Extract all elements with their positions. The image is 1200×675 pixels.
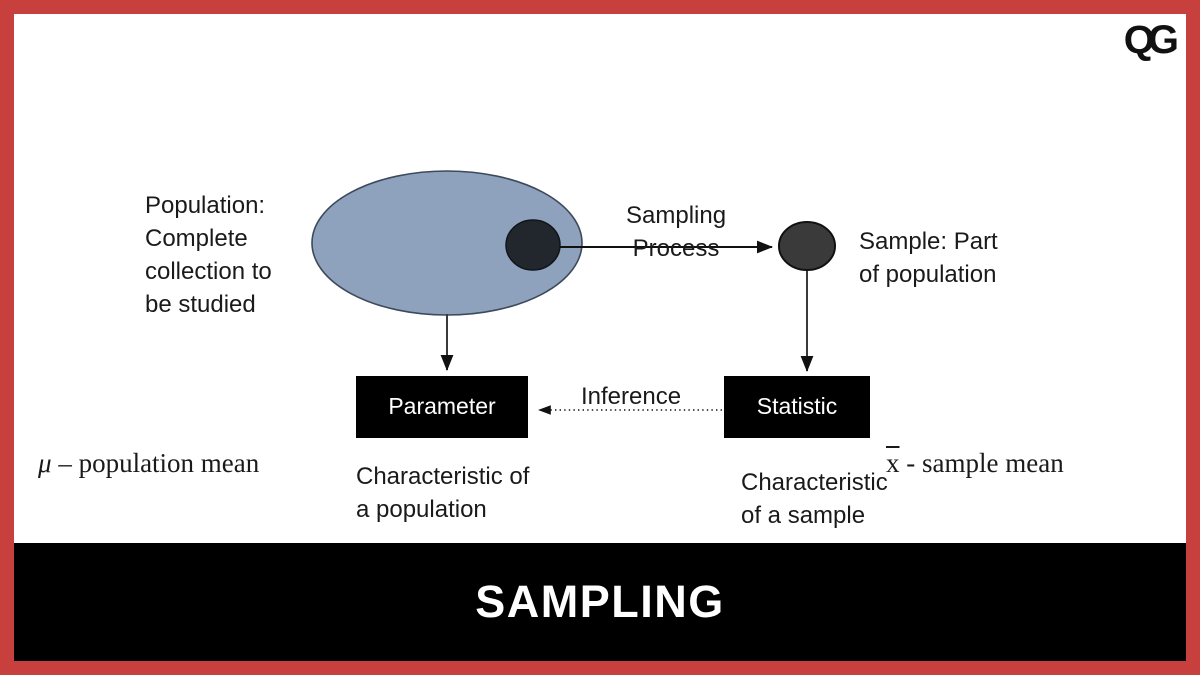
statistic-box-label: Statistic (724, 393, 870, 420)
slide-frame: QG (0, 0, 1200, 675)
x-bar-symbol-text: - sample mean (900, 448, 1064, 478)
population-description: Population: Complete collection to be st… (145, 189, 272, 321)
mu-symbol-text: – population mean (52, 448, 260, 478)
slide-title: SAMPLING (475, 576, 725, 628)
slide-canvas: QG (14, 14, 1186, 661)
sampling-process-label: Sampling Process (626, 199, 726, 265)
x-bar-symbol: x (886, 448, 900, 478)
population-sample-circle (506, 220, 560, 270)
parameter-box-label: Parameter (356, 393, 528, 420)
sample-circle (779, 222, 835, 270)
statistic-caption: Characteristic of a sample (741, 466, 888, 532)
statistic-symbol-mean-line: x - sample mean (886, 447, 1096, 480)
parameter-symbol-mean-line: μ – population mean (38, 447, 286, 480)
title-bar: SAMPLING (14, 543, 1186, 661)
inference-label: Inference (581, 380, 681, 413)
sample-description: Sample: Part of population (859, 225, 998, 291)
mu-symbol: μ (38, 448, 52, 478)
parameter-caption: Characteristic of a population (356, 460, 529, 526)
